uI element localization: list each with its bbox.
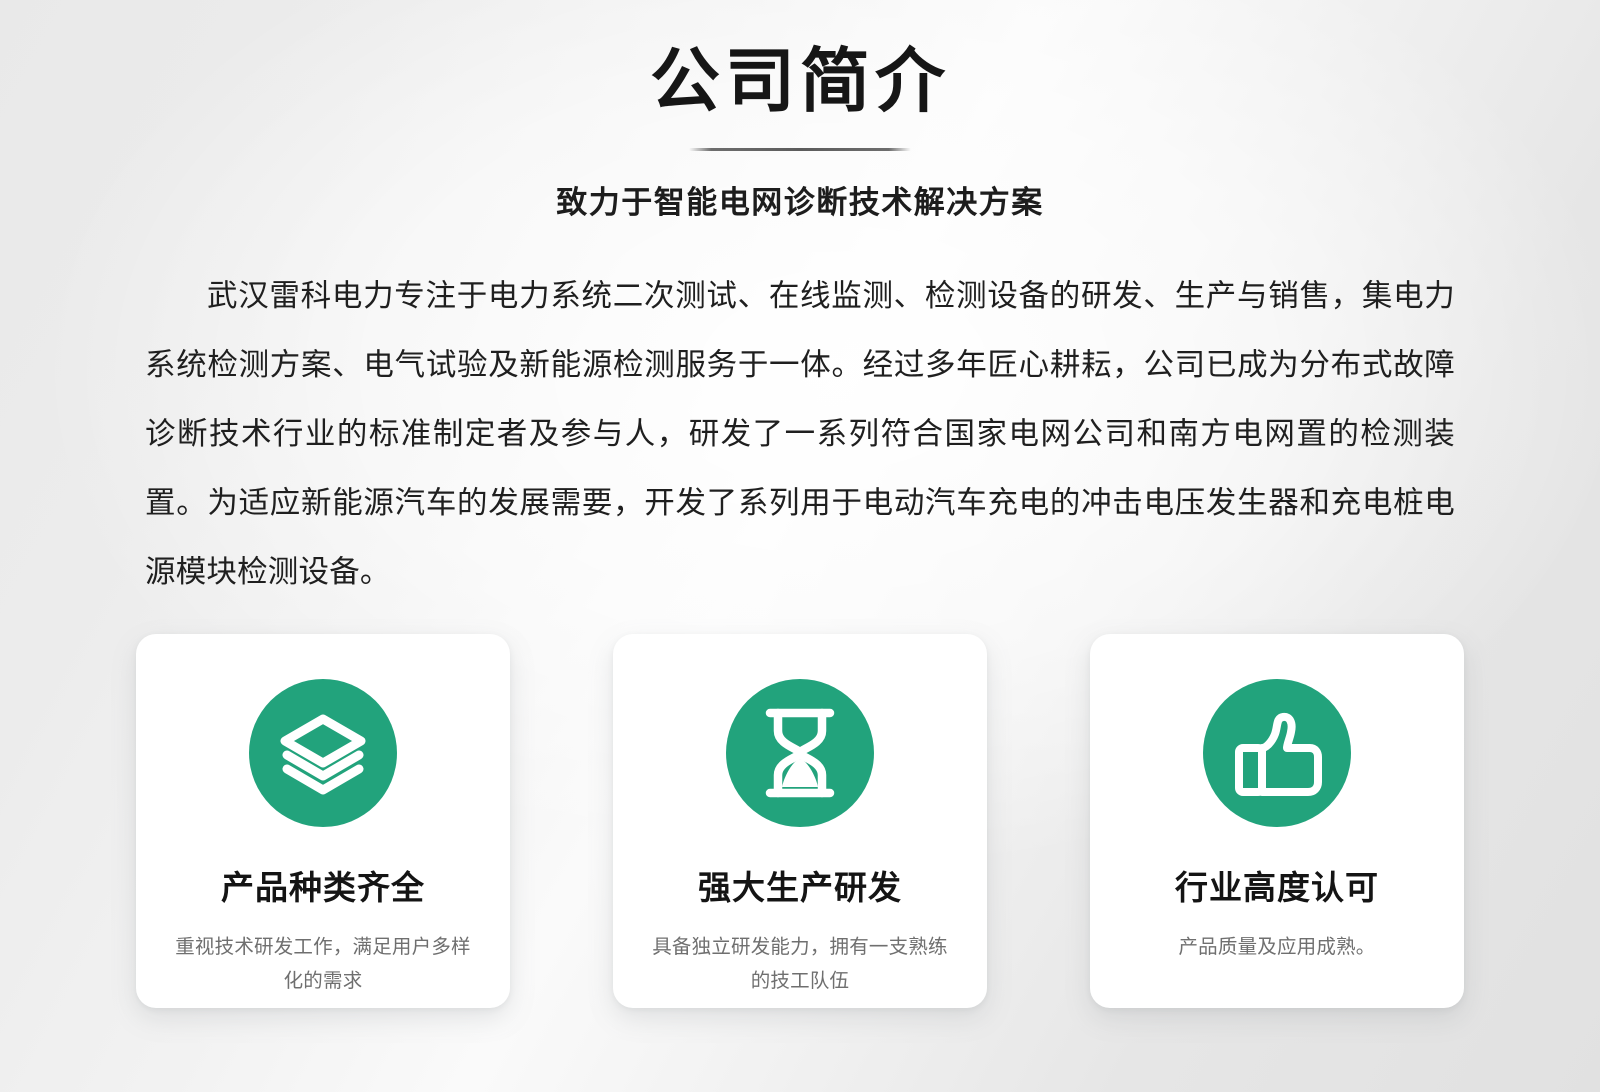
feature-card-title: 强大生产研发 <box>698 870 902 906</box>
feature-card-title: 产品种类齐全 <box>221 870 425 906</box>
feature-card-description: 具备独立研发能力，拥有一支熟练的技工队伍 <box>650 930 950 998</box>
page-header: 公司简介 致力于智能电网诊断技术解决方案 <box>0 0 1600 222</box>
hourglass-icon <box>726 679 874 827</box>
feature-card-title: 行业高度认可 <box>1175 870 1379 906</box>
title-divider <box>689 148 911 151</box>
feature-card-description: 产品质量及应用成熟。 <box>1178 930 1375 964</box>
company-profile-page: 公司简介 致力于智能电网诊断技术解决方案 武汉雷科电力专注于电力系统二次测试、在… <box>0 0 1600 1092</box>
page-title: 公司简介 <box>0 44 1600 120</box>
layers-icon <box>249 679 397 827</box>
page-subtitle: 致力于智能电网诊断技术解决方案 <box>0 177 1600 222</box>
feature-card-list: 产品种类齐全 重视技术研发工作，满足用户多样化的需求 强大生产研发 具备独立 <box>0 634 1600 1008</box>
feature-card-products[interactable]: 产品种类齐全 重视技术研发工作，满足用户多样化的需求 <box>136 634 510 1008</box>
thumbs-up-icon <box>1203 679 1351 827</box>
feature-card-description: 重视技术研发工作，满足用户多样化的需求 <box>173 930 473 998</box>
company-intro-paragraph: 武汉雷科电力专注于电力系统二次测试、在线监测、检测设备的研发、生产与销售，集电力… <box>145 262 1455 607</box>
feature-card-recognition[interactable]: 行业高度认可 产品质量及应用成熟。 <box>1090 634 1464 1008</box>
feature-card-rnd[interactable]: 强大生产研发 具备独立研发能力，拥有一支熟练的技工队伍 <box>613 634 987 1008</box>
